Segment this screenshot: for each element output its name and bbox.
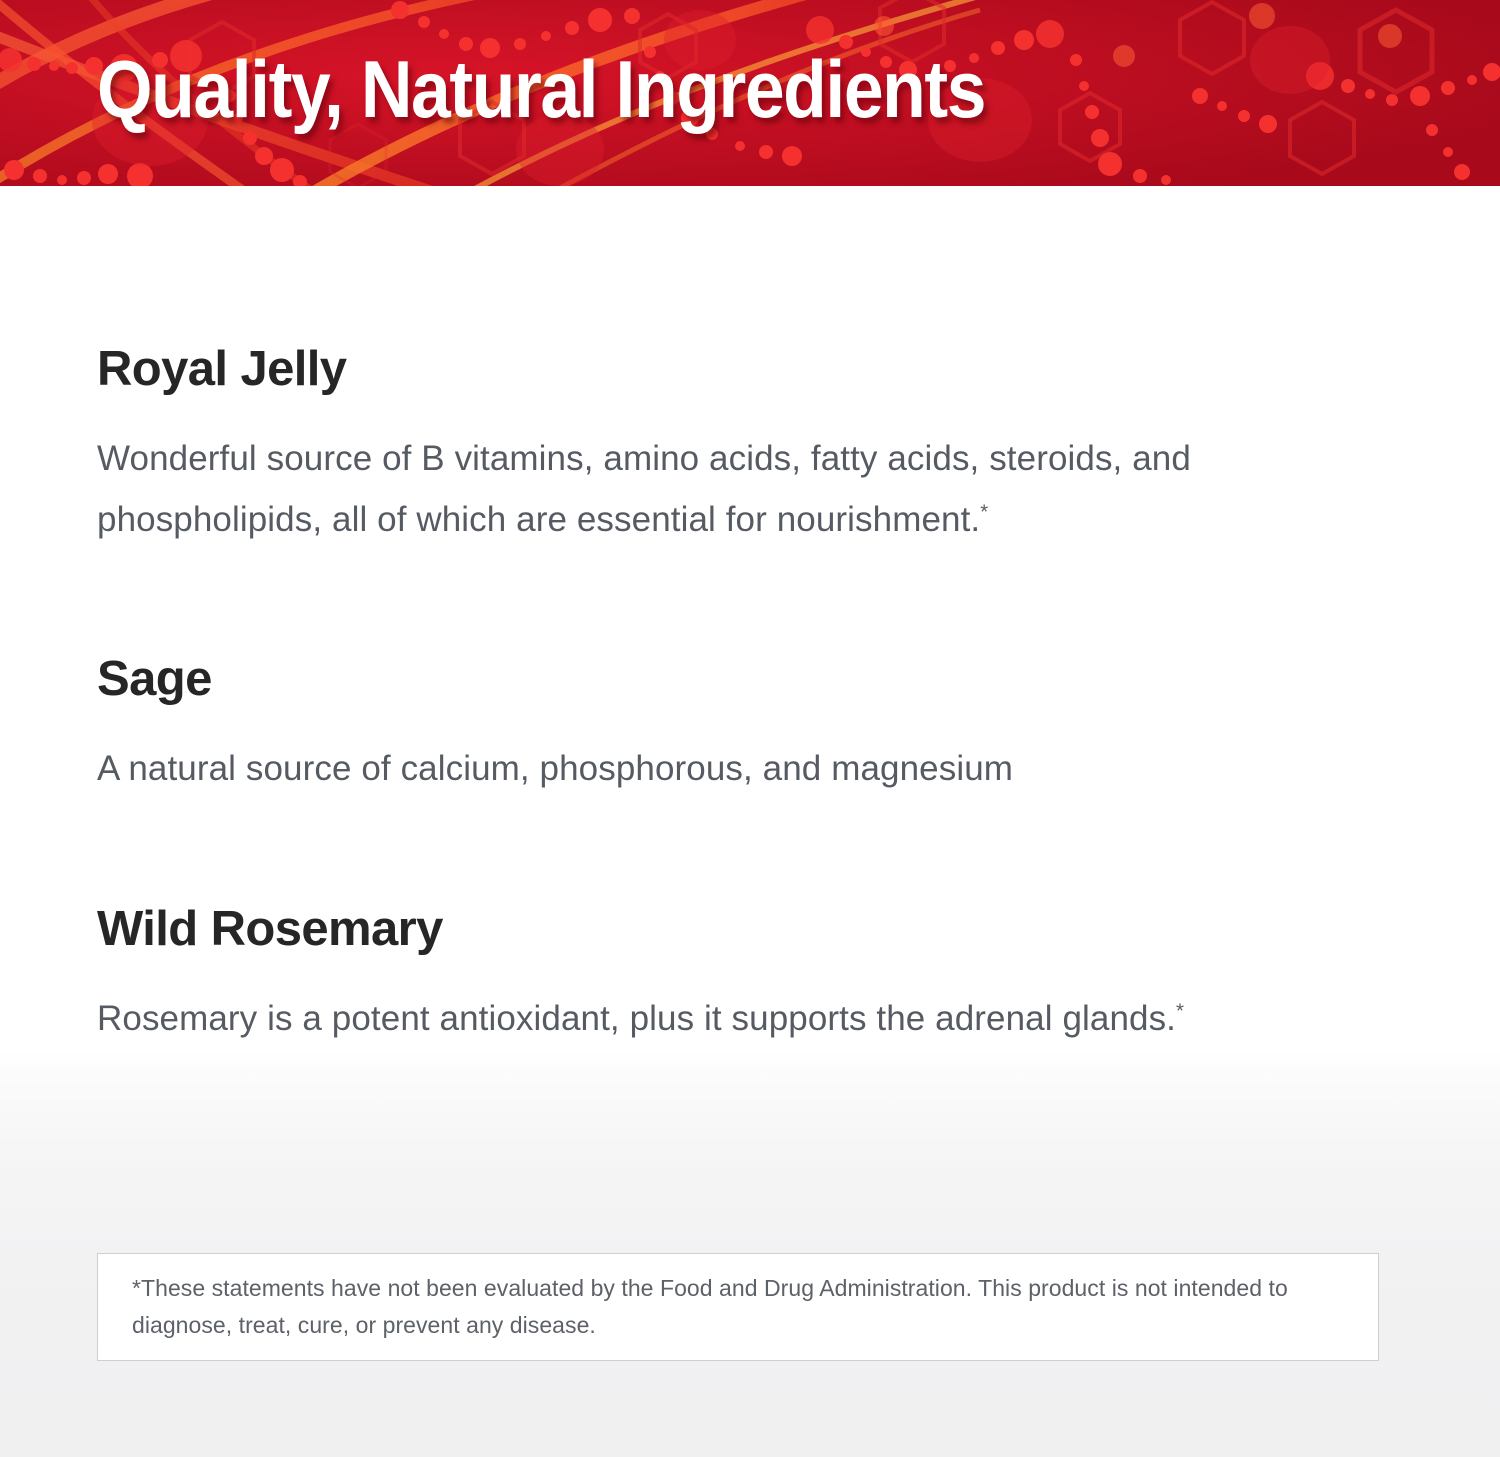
ingredient-title-wild-rosemary: Wild Rosemary xyxy=(97,904,1417,955)
ingredient-title-sage: Sage xyxy=(97,654,1387,705)
ingredient-description-text: Wonderful source of B vitamins, amino ac… xyxy=(97,439,1191,538)
ingredients-info-page: Quality, Natural Ingredients Royal Jelly… xyxy=(0,0,1500,1457)
ingredient-description-sage: A natural source of calcium, phosphorous… xyxy=(97,739,1387,799)
fda-disclaimer-box: *These statements have not been evaluate… xyxy=(97,1253,1379,1361)
ingredient-description-text: Rosemary is a potent antioxidant, plus i… xyxy=(97,999,1176,1038)
ingredient-description-wild-rosemary: Rosemary is a potent antioxidant, plus i… xyxy=(97,989,1417,1049)
ingredient-description-royal-jelly: Wonderful source of B vitamins, amino ac… xyxy=(97,429,1372,549)
page-title: Quality, Natural Ingredients xyxy=(97,50,985,131)
ingredient-section-royal-jelly: Royal Jelly Wonderful source of B vitami… xyxy=(97,344,1387,550)
ingredient-title-royal-jelly: Royal Jelly xyxy=(97,344,1387,395)
ingredient-section-sage: Sage A natural source of calcium, phosph… xyxy=(97,654,1387,800)
footnote-marker: * xyxy=(980,501,988,523)
page-banner: Quality, Natural Ingredients xyxy=(0,0,1500,186)
ingredient-description-text: A natural source of calcium, phosphorous… xyxy=(97,749,1013,788)
ingredient-section-wild-rosemary: Wild Rosemary Rosemary is a potent antio… xyxy=(97,904,1417,1050)
footnote-marker: * xyxy=(1176,1001,1184,1023)
fda-disclaimer-text: *These statements have not been evaluate… xyxy=(98,1270,1378,1345)
